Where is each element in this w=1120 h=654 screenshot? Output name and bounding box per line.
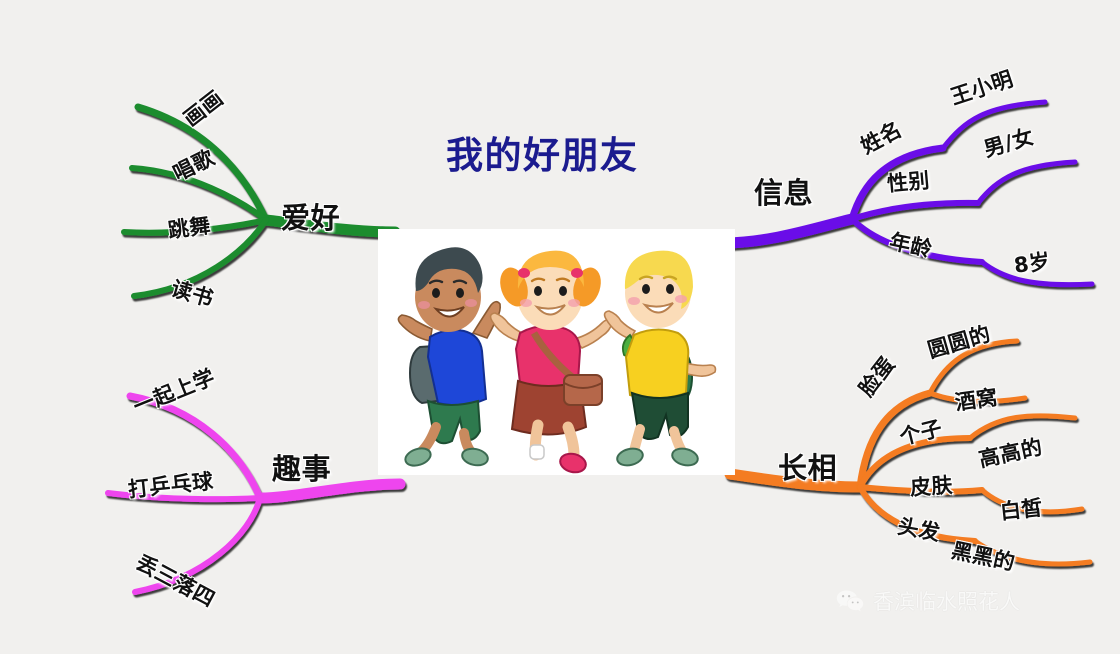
branch-value-appearance-face-dimple[interactable]: 酒窝 (953, 381, 1000, 417)
kids-illustration (378, 229, 735, 475)
branch-label-appearance[interactable]: 长相 (778, 445, 837, 487)
watermark: 香滨临水照花人 (836, 586, 1020, 616)
branch-label-info[interactable]: 信息 (754, 170, 813, 212)
branch-label-info-gender[interactable]: 性别 (886, 164, 931, 198)
branch-label-stories[interactable]: 趣事 (272, 446, 331, 488)
wechat-icon (836, 589, 864, 613)
branch-label-appearance-skin[interactable]: 皮肤 (909, 469, 954, 502)
mindmap-canvas: 我的好朋友 (0, 0, 1120, 654)
branch-trunk-info (722, 219, 852, 243)
branch-group-hobby (124, 107, 395, 296)
branch-sub-info-1 (852, 203, 978, 219)
page-title: 我的好朋友 (446, 125, 638, 179)
branch-label-hobby[interactable]: 爱好 (281, 195, 340, 237)
branch-value-appearance-skin[interactable]: 白皙 (998, 492, 1044, 526)
branch-label-hobby-dance[interactable]: 跳舞 (166, 209, 213, 245)
center-illustration (378, 229, 735, 475)
watermark-text: 香滨临水照花人 (873, 586, 1020, 616)
branch-leaf-info-1-0 (978, 162, 1075, 203)
branch-value-info-age[interactable]: 8岁 (1012, 245, 1052, 280)
